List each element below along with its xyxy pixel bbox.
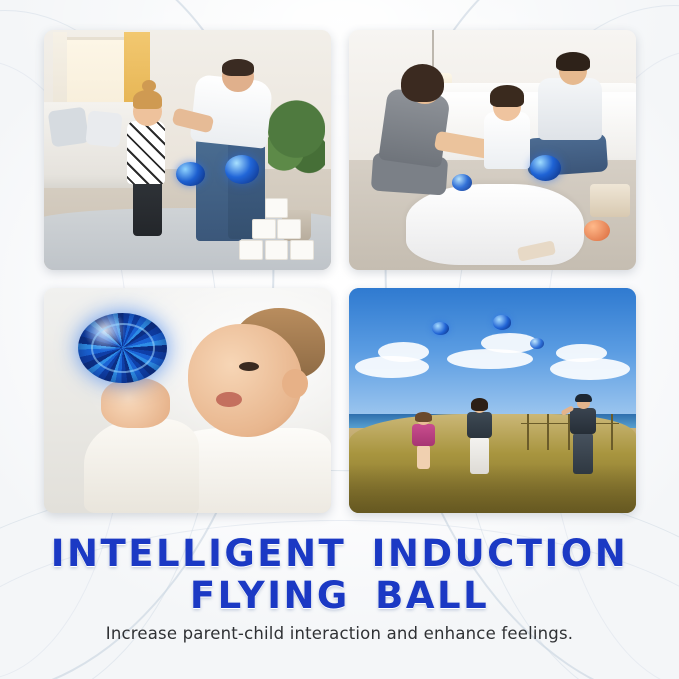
child-hair — [490, 85, 524, 107]
flying-ball-1 — [78, 313, 167, 383]
girl-dress — [127, 121, 164, 183]
houseplant — [268, 92, 325, 198]
father-hair — [556, 52, 590, 71]
product-headline: INTELLIGENT INDUCTION FLYING BALL — [0, 534, 679, 616]
headline-line-1: INTELLIGENT INDUCTION — [0, 534, 679, 574]
flying-ball-2 — [493, 315, 512, 330]
baby-mouth — [216, 392, 242, 408]
photo-family-floor: Mother kneeling on a white blanket with … — [349, 30, 636, 270]
headline-line-2: FLYING BALL — [0, 576, 679, 616]
flying-ball-2 — [452, 174, 472, 191]
product-image-canvas: Father and toddler girl playing with two… — [0, 0, 679, 679]
cushion-2 — [85, 110, 123, 147]
flying-ball-1 — [176, 162, 205, 186]
girl-hair — [133, 90, 162, 109]
father-torso — [538, 78, 601, 140]
white-blanket — [406, 184, 584, 266]
cushion-1 — [47, 107, 89, 148]
product-tagline: Increase parent-child interaction and en… — [0, 624, 679, 643]
father-hair — [222, 59, 254, 76]
flying-ball-2 — [225, 155, 259, 184]
photo-beach-dune: Girl, mother and father on a grassy beac… — [349, 288, 636, 513]
father-figure — [567, 396, 599, 473]
flying-ball-3 — [530, 338, 544, 349]
baby-sleeve — [84, 419, 199, 514]
mother-hair — [401, 64, 444, 102]
storage-basket — [590, 184, 630, 218]
girl-legs — [133, 179, 162, 237]
mother-figure — [467, 401, 493, 473]
photo-living-room: Father and toddler girl playing with two… — [44, 30, 331, 270]
baby-hand — [101, 378, 170, 428]
block-stack — [239, 198, 314, 260]
photo-grid: Father and toddler girl playing with two… — [44, 30, 636, 513]
girl-figure — [412, 414, 435, 468]
photo-baby-ball: Close-up of a baby reaching up toward a … — [44, 288, 331, 513]
